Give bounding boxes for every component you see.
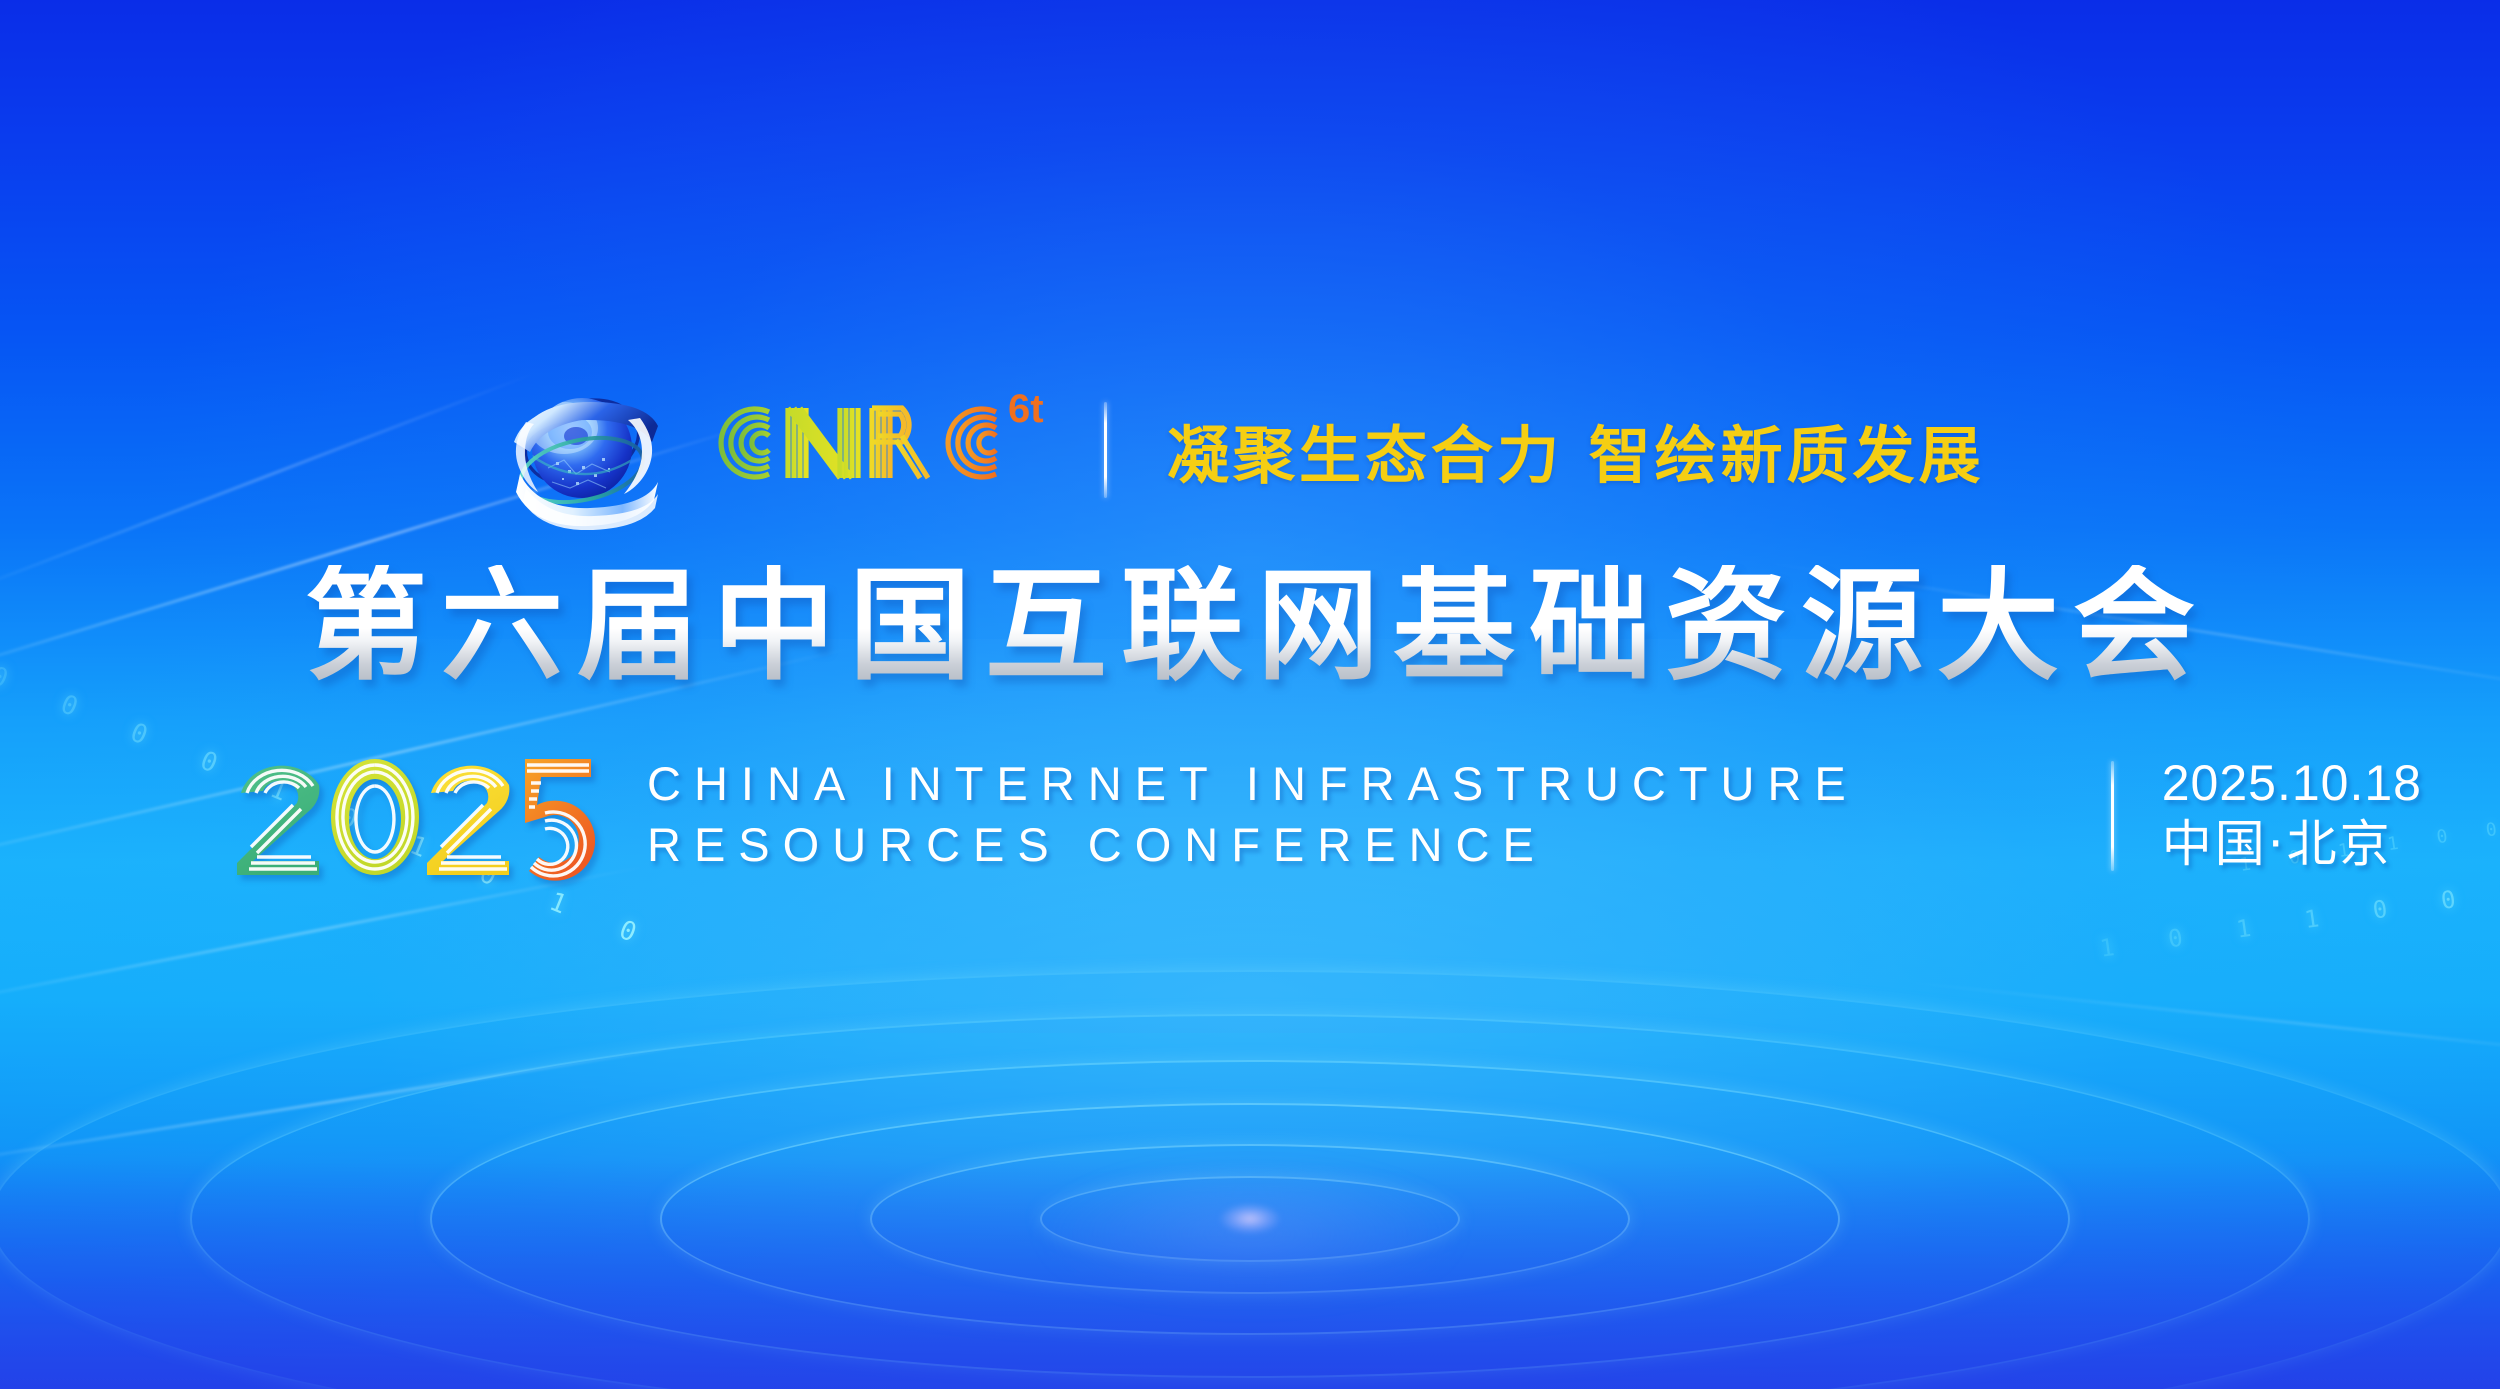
edition-superscript-text: 6th: [1008, 387, 1046, 431]
title-en-line1: CHINA INTERNET INFRASTRUCTURE: [647, 757, 1859, 812]
tagline: 凝聚生态合力 智绘新质发展: [1167, 405, 1985, 495]
date-location-block: 2025.10.18 中国·北京: [2162, 745, 2422, 875]
page-title-cn: 第六届中国互联网基础资源大会: [0, 565, 2500, 687]
event-location: 中国·北京: [2162, 814, 2393, 875]
logo-tagline-row: 6th 凝聚生态合力 智绘新质发展: [490, 370, 1985, 530]
banner-canvas: 0 0 0 0 1 0 1 0 1 0 1 0 1 1 0 0 0 0 0 0 …: [0, 0, 2500, 1389]
event-date: 2025.10.18: [2162, 753, 2422, 814]
logo-tagline-divider: [1104, 402, 1107, 498]
banner-content: 6th 凝聚生态合力 智绘新质发展 第六届中国互联网基础资源大会: [0, 0, 2500, 1389]
title-en-block: CHINA INTERNET INFRASTRUCTURE RESOURCES …: [647, 745, 1859, 872]
cnrc-wordmark: 6th: [706, 386, 1046, 514]
globe-orbit-icon: [490, 370, 680, 530]
title-en-line2: RESOURCES CONFERENCE: [647, 818, 1859, 873]
date-divider: [2111, 761, 2114, 871]
year-2025-graphic: [235, 753, 595, 875]
subtitle-row: CHINA INTERNET INFRASTRUCTURE RESOURCES …: [235, 745, 2422, 875]
